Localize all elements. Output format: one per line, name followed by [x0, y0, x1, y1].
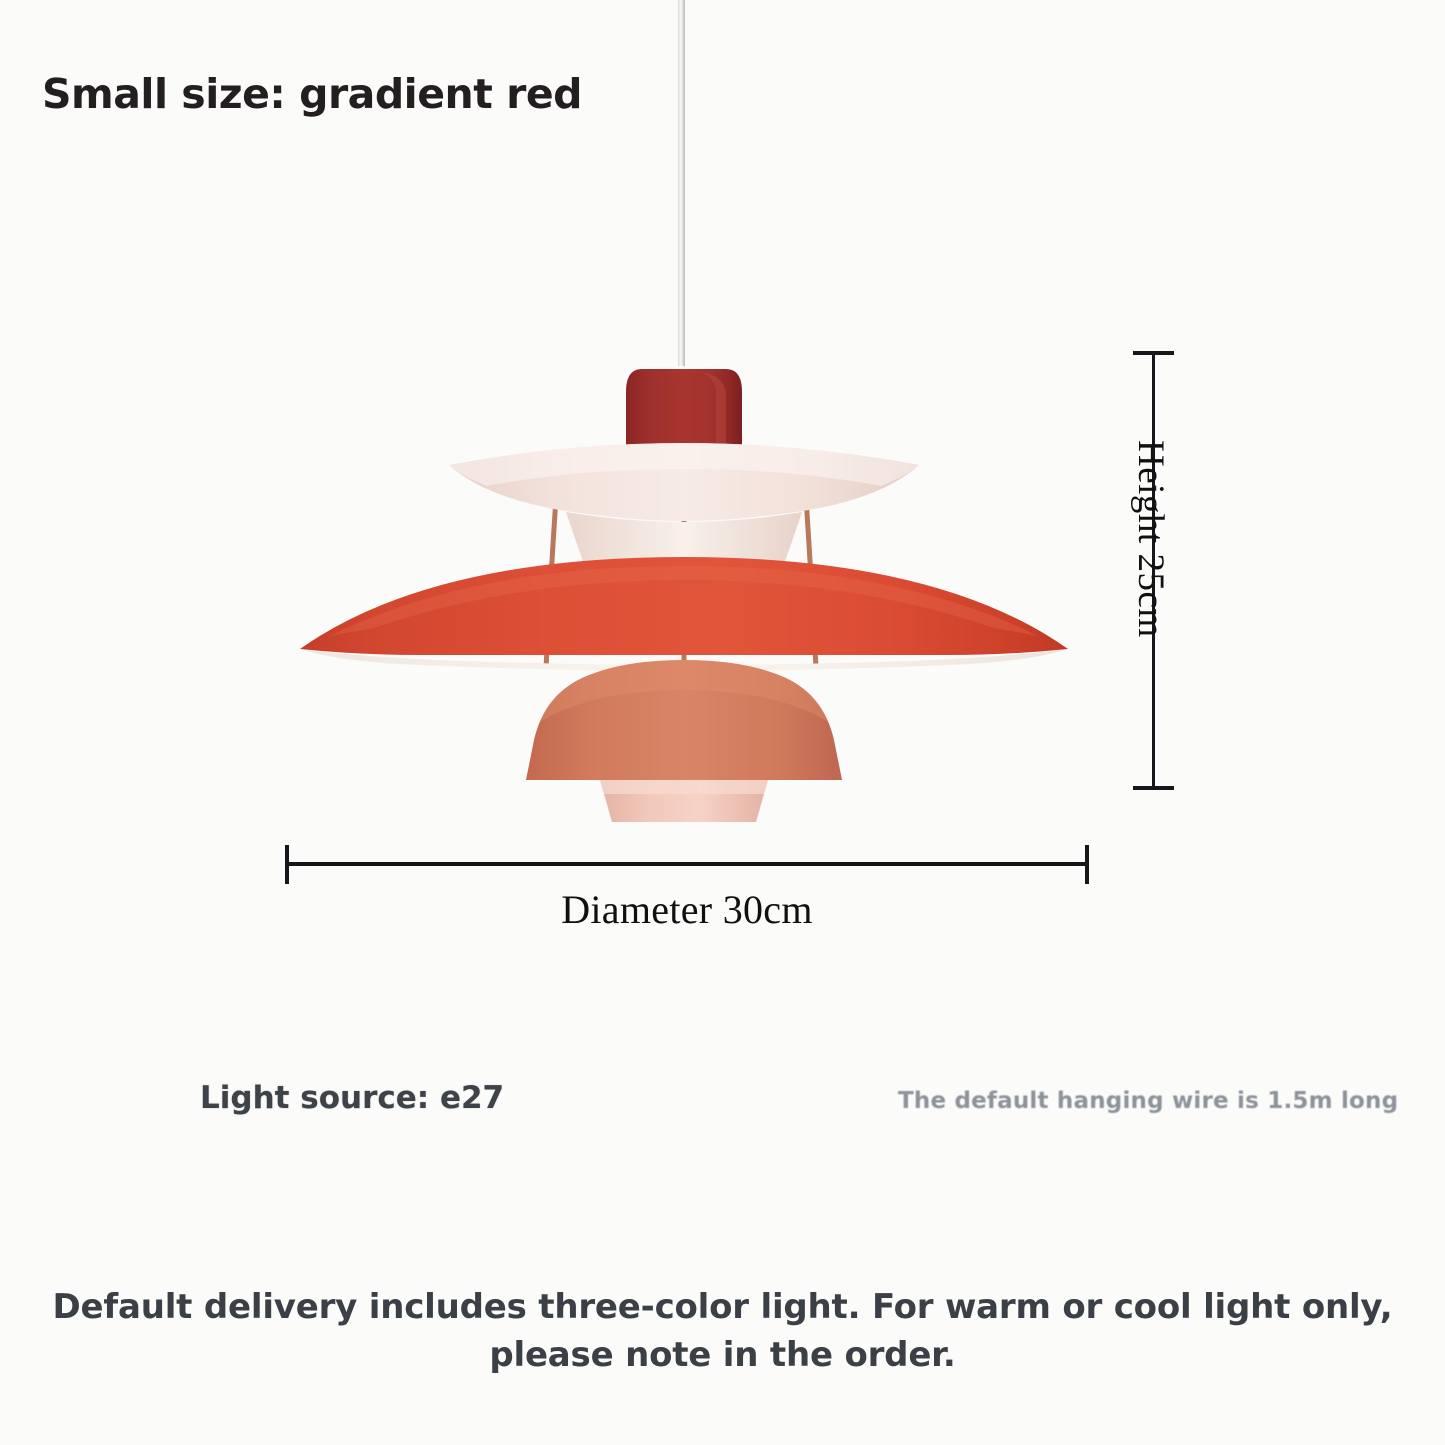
hanging-cord	[678, 0, 685, 366]
lamp-main-shade	[300, 557, 1068, 655]
lamp-upper-shade-skirt	[566, 512, 802, 590]
lamp-third-shade	[526, 660, 842, 780]
lamp-bottom-diffuser	[600, 780, 768, 822]
delivery-note-line-1: Default delivery includes three-color li…	[53, 1287, 1393, 1327]
diameter-dimension-cap-left	[285, 845, 289, 884]
page-title: Small size: gradient red	[42, 70, 582, 118]
height-dimension-cap-bottom	[1133, 786, 1174, 790]
height-dimension-cap-top	[1133, 351, 1174, 355]
diameter-dimension-line	[286, 862, 1088, 866]
light-source-spec: Light source: e27	[200, 1080, 504, 1116]
lamp-support-rods	[546, 480, 816, 680]
lamp-main-shade-rim	[300, 649, 1068, 671]
delivery-note-line-2: please note in the order.	[0, 1331, 1445, 1379]
diameter-dimension-cap-right	[1085, 845, 1089, 884]
height-dimension-label: Height 25cm	[1129, 440, 1172, 638]
hanging-wire-spec: The default hanging wire is 1.5m long	[898, 1088, 1398, 1114]
pendant-lamp-illustration	[0, 0, 1445, 1445]
product-spec-page: Small size: gradient red	[0, 0, 1445, 1445]
lamp-top-cylinder	[626, 369, 742, 454]
lamp-upper-shade	[449, 443, 919, 521]
diameter-dimension-label: Diameter 30cm	[0, 886, 1374, 933]
delivery-note: Default delivery includes three-color li…	[0, 1283, 1445, 1380]
